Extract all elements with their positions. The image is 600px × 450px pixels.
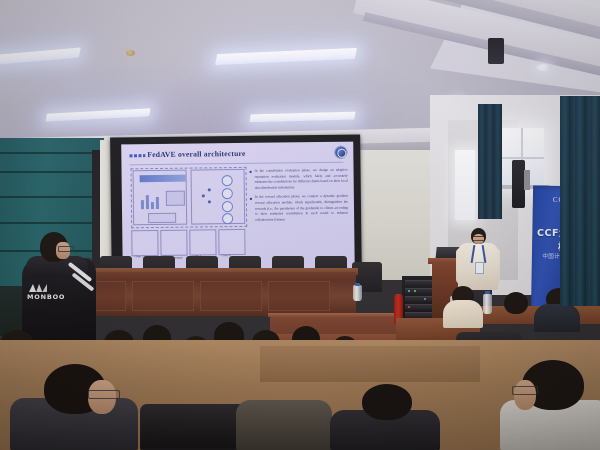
diagram-header-bar (140, 175, 186, 183)
recessed-downlight (536, 64, 551, 71)
diagram-client-box (189, 229, 216, 255)
audience-torso (236, 400, 332, 450)
diagram-client-box (160, 230, 187, 256)
audience-head (504, 292, 528, 314)
panel-groove (0, 152, 104, 154)
wall-speaker (488, 38, 504, 64)
university-logo-icon (334, 146, 347, 159)
table-panel (132, 281, 194, 311)
status-led (414, 290, 416, 292)
status-led (408, 290, 410, 292)
lecture-hall-photo: FedAVE overall architecture (0, 0, 600, 450)
diagram-client-box (218, 229, 245, 255)
bottle-cap (485, 291, 490, 294)
status-led (408, 306, 410, 308)
diagram-panel-right (191, 169, 246, 225)
glasses-icon (512, 386, 538, 395)
table-panel (200, 281, 262, 311)
panel-groove (0, 196, 104, 198)
panel-groove (0, 171, 104, 173)
projection-screen[interactable]: FedAVE overall architecture (121, 142, 355, 275)
audience-head (362, 384, 412, 420)
window-mullion (500, 157, 544, 159)
slide-bullet-text: In the contribution evaluation phase, we… (255, 168, 348, 192)
id-badge (475, 262, 484, 274)
glasses-icon (58, 246, 74, 252)
bottle-cap (355, 283, 360, 286)
slide-title: FedAVE overall architecture (147, 149, 245, 159)
diagram-panel-left (133, 170, 188, 226)
diagram-bar-chart (141, 193, 163, 209)
slide-architecture-diagram: Client 1 Client 2 Client 3 Client N FedA… (129, 167, 248, 268)
slide-title-underline (129, 162, 343, 166)
smoke-detector-icon (126, 50, 135, 56)
jacket-brand-text: MONBOO (27, 293, 71, 301)
glasses-icon (473, 236, 484, 241)
table-panel (268, 281, 330, 311)
audience-face (514, 380, 536, 410)
slide-bullet: In the reward allocation phase, we condu… (250, 194, 348, 223)
title-dash-decoration (129, 154, 145, 157)
audience-torso (534, 304, 580, 332)
audience-torso (443, 300, 483, 328)
slide-bullet: In the contribution evaluation phase, we… (250, 168, 348, 192)
floor-aisle (260, 346, 480, 382)
curtain[interactable] (478, 104, 502, 219)
water-bottle[interactable] (353, 285, 362, 301)
window (455, 150, 475, 220)
water-bottle[interactable] (483, 294, 492, 314)
diagram-client-label: Client 1 (135, 255, 143, 258)
slide-bullet-text: In the reward allocation phase, we condu… (255, 194, 348, 223)
glasses-icon (88, 390, 120, 399)
slide-bullet-list: In the contribution evaluation phase, we… (250, 168, 349, 228)
diagram-client-box (131, 230, 158, 256)
panel-groove (0, 222, 104, 224)
status-led (424, 298, 426, 300)
diagram-module-box (166, 191, 185, 206)
diagram-module-box (148, 213, 176, 223)
speaker-bracket (524, 170, 530, 190)
curtain[interactable] (560, 96, 600, 306)
